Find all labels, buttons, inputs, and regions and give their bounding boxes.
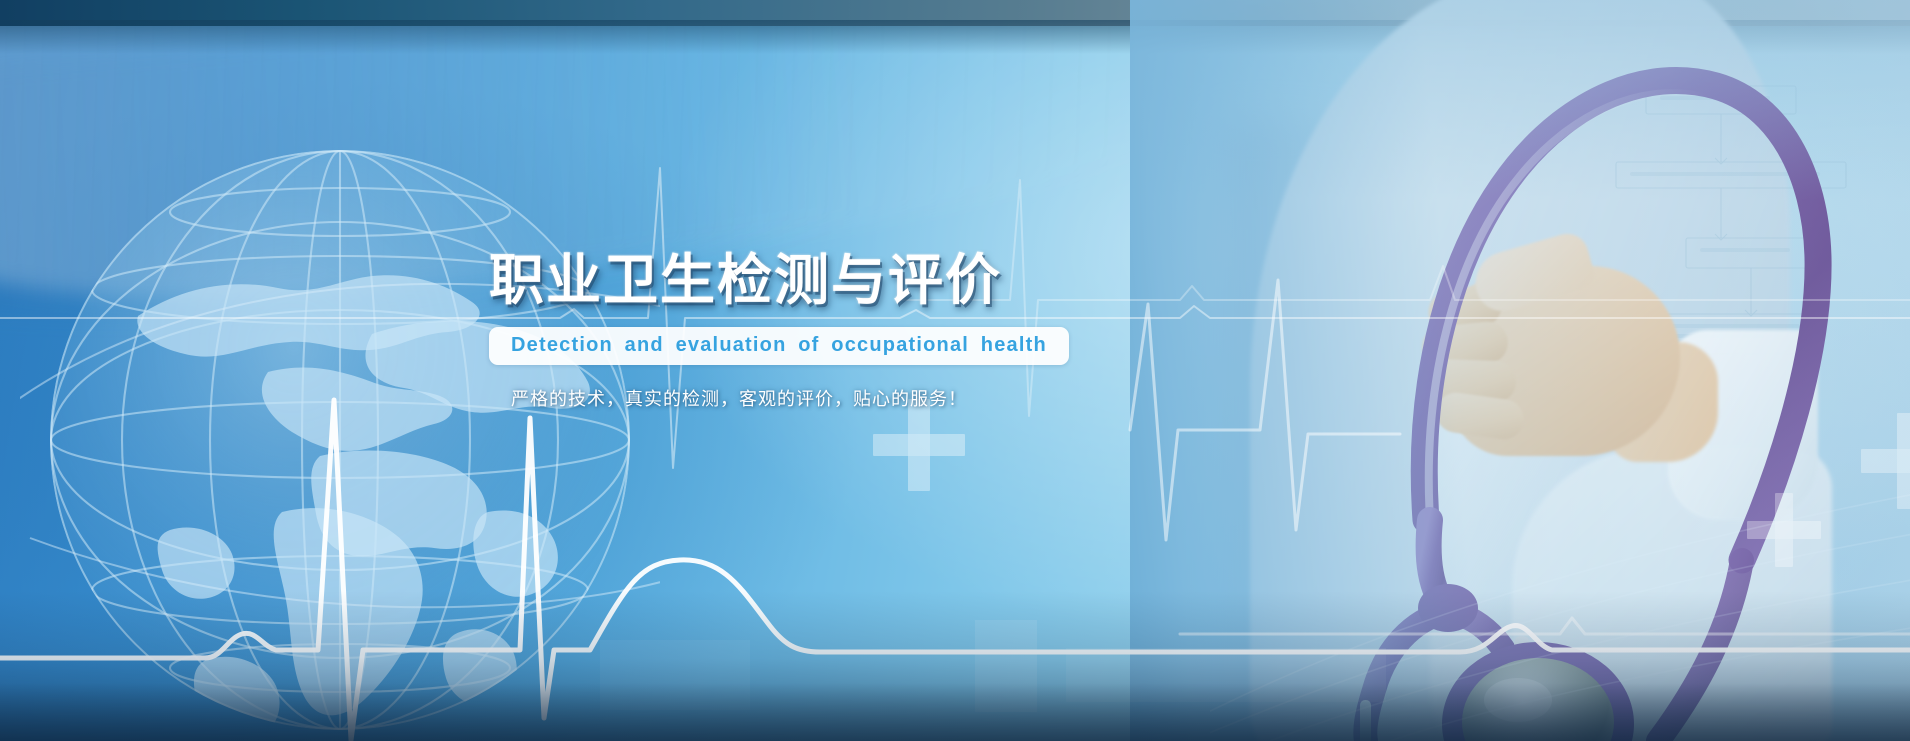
banner-english-subtitle: Detection and evaluation of occupational…	[489, 327, 1069, 365]
medical-cross-icon	[873, 399, 965, 491]
medical-cross-icon	[1861, 413, 1910, 509]
banner-tagline: 严格的技术，真实的检测，客观的评价，贴心的服务！	[511, 385, 1189, 411]
bottom-vignette-strong	[0, 683, 1910, 741]
occupational-health-banner: 职业卫生检测与评价 Detection and evaluation of oc…	[0, 0, 1910, 741]
medical-cross-icon	[1747, 493, 1821, 567]
banner-copy-block: 职业卫生检测与评价 Detection and evaluation of oc…	[489, 252, 1189, 411]
banner-title: 职业卫生检测与评价	[489, 252, 1189, 310]
